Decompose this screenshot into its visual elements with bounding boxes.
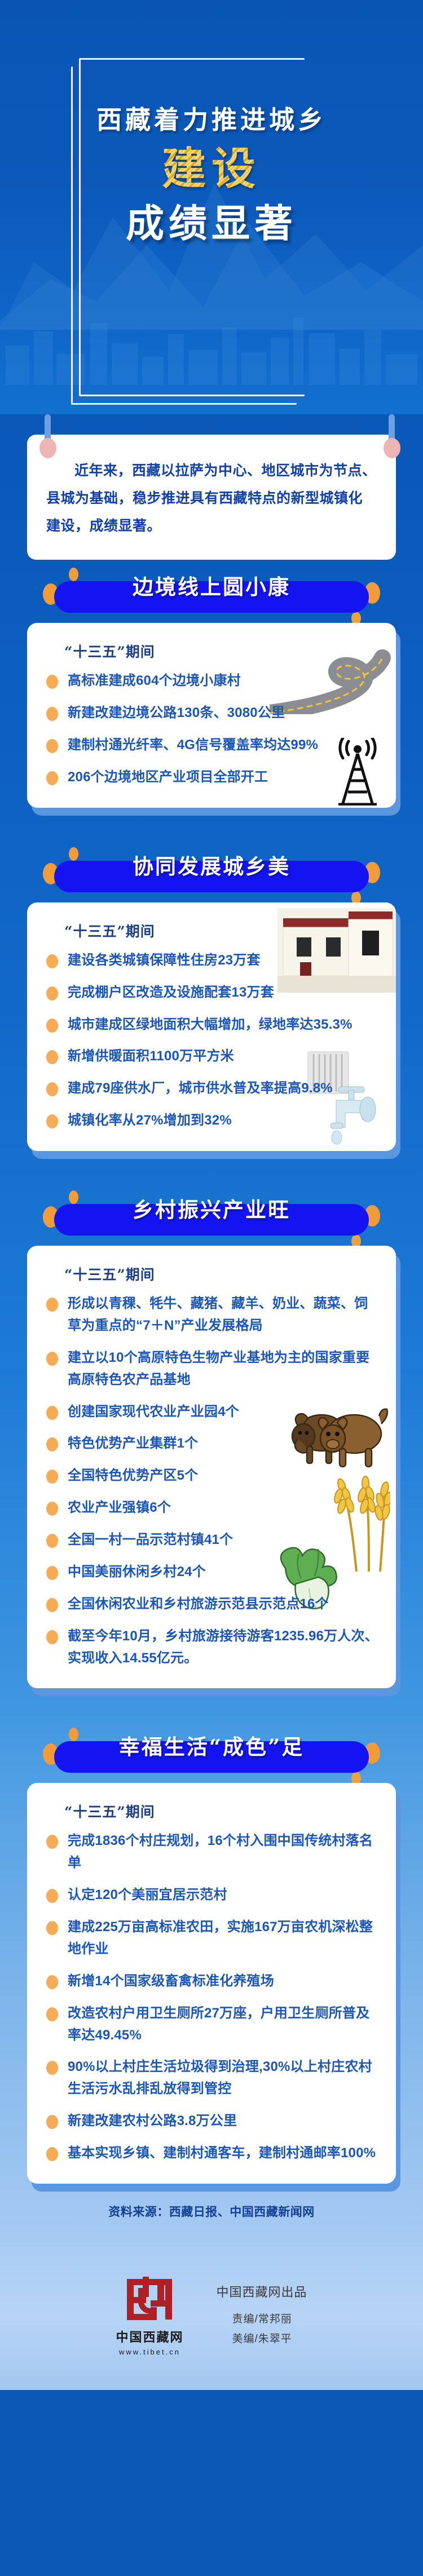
list-item: 新建改建农村公路3.8万公里 — [43, 2110, 380, 2132]
logo-block: 中国西藏网 www.tibet.cn — [116, 2276, 183, 2356]
intro-card: 近年来，西藏以拉萨为中心、地区城市为节点、县城为基础，稳步推进具有西藏特点的新型… — [27, 435, 396, 560]
hero-title-gold: 建设 — [0, 143, 423, 196]
list-item: 建制村通光纤率、4G信号覆盖率均达99% — [43, 734, 380, 756]
produced-by: 中国西藏网出品 — [217, 2282, 307, 2300]
list-item: 基本实现乡镇、建制村通客车，建制村通邮率100% — [43, 2143, 380, 2165]
section-card-3-wrapper: “十三五”期间 形成以青稞、牦牛、藏猪、藏羊、奶业、蔬菜、饲草为重点的“7＋N”… — [27, 1246, 396, 1688]
section-1-list: 高标准建成604个边境小康村 新建改建边境公路130条、3080公里 建制村通光… — [43, 670, 380, 789]
footer: 中国西藏网 www.tibet.cn 中国西藏网出品 责编/常邦丽 美编/朱翠平 — [0, 2242, 423, 2390]
list-item: 新建改建边境公路130条、3080公里 — [43, 702, 380, 724]
section-2-list: 建设各类城镇保障性住房23万套 完成棚户区改造及设施配套13万套 城市建成区绿地… — [43, 950, 380, 1132]
list-item: 全国一村一品示范村镇41个 — [43, 1529, 380, 1551]
section-header-3: 乡村振兴产业旺 — [27, 1183, 396, 1246]
list-item: 高标准建成604个边境小康村 — [43, 670, 380, 692]
section-title-4: 幸福生活“成色”足 — [27, 1730, 396, 1760]
list-item: 城镇化率从27%增加到32% — [43, 1110, 380, 1132]
hero-title-line-3: 成绩显著 — [0, 201, 423, 247]
section-title-1: 边境线上圆小康 — [27, 570, 396, 600]
section-4-list: 完成1836个村庄规划，16个村入围中国传统村落名单 认定120个美丽宜居示范村… — [43, 1830, 380, 2165]
section-card-2-wrapper: “十三五”期间 建设各类城镇保障性住房23万套 完成棚户区改造及设施配套13万套… — [27, 902, 396, 1151]
list-item: 特色优势产业集群1个 — [43, 1433, 380, 1455]
section-header-2: 协同发展城乡美 — [27, 839, 396, 902]
section-title-3: 乡村振兴产业旺 — [27, 1193, 396, 1223]
list-item: 90%以上村庄生活垃圾得到治理,30%以上村庄农村生活污水乱排乱放得到管控 — [43, 2056, 380, 2100]
section-card-2: “十三五”期间 建设各类城镇保障性住房23万套 完成棚户区改造及设施配套13万套… — [27, 902, 396, 1151]
list-item: 创建国家现代农业产业园4个 — [43, 1401, 380, 1423]
period-label-4: “十三五”期间 — [64, 1801, 380, 1821]
list-item: 完成棚户区改造及设施配套13万套 — [43, 982, 380, 1004]
list-item: 新增14个国家级畜禽标准化养殖场 — [43, 1971, 380, 1993]
section-card-4-wrapper: “十三五”期间 完成1836个村庄规划，16个村入围中国传统村落名单 认定120… — [27, 1783, 396, 2184]
section-card-1: “十三五”期间 高标准建成604个边境小康村 新建改建边境公路130条、3080… — [27, 623, 396, 808]
section-card-3: “十三五”期间 形成以青稞、牦牛、藏猪、藏羊、奶业、蔬菜、饲草为重点的“7＋N”… — [27, 1246, 396, 1688]
logo-url: www.tibet.cn — [116, 2348, 183, 2356]
section-card-1-wrapper: “十三五”期间 高标准建成604个边境小康村 新建改建边境公路130条、3080… — [27, 623, 396, 808]
designer-credit: 美编/朱翠平 — [217, 2330, 307, 2345]
list-item: 全国特色优势产区5个 — [43, 1465, 380, 1487]
infographic-body: 近年来，西藏以拉萨为中心、地区城市为节点、县城为基础，稳步推进具有西藏特点的新型… — [0, 414, 423, 2242]
intro-paragraph: 近年来，西藏以拉萨为中心、地区城市为节点、县城为基础，稳步推进具有西藏特点的新型… — [46, 457, 377, 539]
credits-block: 中国西藏网出品 责编/常邦丽 美编/朱翠平 — [217, 2282, 307, 2350]
intro-card-wrapper: 近年来，西藏以拉萨为中心、地区城市为节点、县城为基础，稳步推进具有西藏特点的新型… — [27, 414, 396, 560]
section-header-4: 幸福生活“成色”足 — [27, 1720, 396, 1783]
hero-title-line-1: 西藏着力推进城乡 — [0, 104, 423, 136]
list-item: 城市建成区绿地面积大幅增加，绿地率达35.3% — [43, 1014, 380, 1036]
source-attribution: 资料来源：西藏日报、中国西藏新闻网 — [0, 2184, 423, 2242]
hero-title-group: 西藏着力推进城乡 建设 成绩显著 — [0, 104, 423, 247]
hero-banner: 西藏着力推进城乡 建设 成绩显著 — [0, 0, 423, 414]
list-item: 建设各类城镇保障性住房23万套 — [43, 950, 380, 972]
list-item: 截至今年10月，乡村旅游接待游客1235.96万人次、实现收入14.55亿元。 — [43, 1626, 380, 1670]
list-item: 建成225万亩高标准农田，实施167万亩农机深松整地作业 — [43, 1916, 380, 1960]
list-item: 建立以10个高原特色生物产业基地为主的国家重要高原特色农产品基地 — [43, 1347, 380, 1391]
list-item: 中国美丽休闲乡村24个 — [43, 1561, 380, 1583]
list-item: 全国休闲农业和乡村旅游示范县示范点16个 — [43, 1594, 380, 1615]
list-item: 改造农村户用卫生厕所27万座，户用卫生厕所普及率达49.45% — [43, 2003, 380, 2047]
list-item: 完成1836个村庄规划，16个村入围中国传统村落名单 — [43, 1830, 380, 1874]
logo-name: 中国西藏网 — [116, 2327, 183, 2345]
list-item: 形成以青稞、牦牛、藏猪、藏羊、奶业、蔬菜、饲草为重点的“7＋N”产业发展格局 — [43, 1293, 380, 1337]
list-item: 农业产业强镇6个 — [43, 1497, 380, 1519]
tibet-logo-icon — [126, 2276, 173, 2323]
section-header-1: 边境线上圆小康 — [27, 560, 396, 623]
period-label-1: “十三五”期间 — [64, 641, 380, 661]
list-item: 206个边境地区产业项目全部开工 — [43, 767, 380, 789]
section-3-list: 形成以青稞、牦牛、藏猪、藏羊、奶业、蔬菜、饲草为重点的“7＋N”产业发展格局 建… — [43, 1293, 380, 1669]
list-item: 新增供暖面积1100万平方米 — [43, 1046, 380, 1068]
period-label-3: “十三五”期间 — [64, 1264, 380, 1284]
period-label-2: “十三五”期间 — [64, 920, 380, 941]
list-item: 建成79座供水厂，城市供水普及率提高9.8% — [43, 1078, 380, 1100]
section-card-4: “十三五”期间 完成1836个村庄规划，16个村入围中国传统村落名单 认定120… — [27, 1783, 396, 2184]
section-title-2: 协同发展城乡美 — [27, 849, 396, 880]
editor-credit: 责编/常邦丽 — [217, 2311, 307, 2326]
list-item: 认定120个美丽宜居示范村 — [43, 1884, 380, 1906]
